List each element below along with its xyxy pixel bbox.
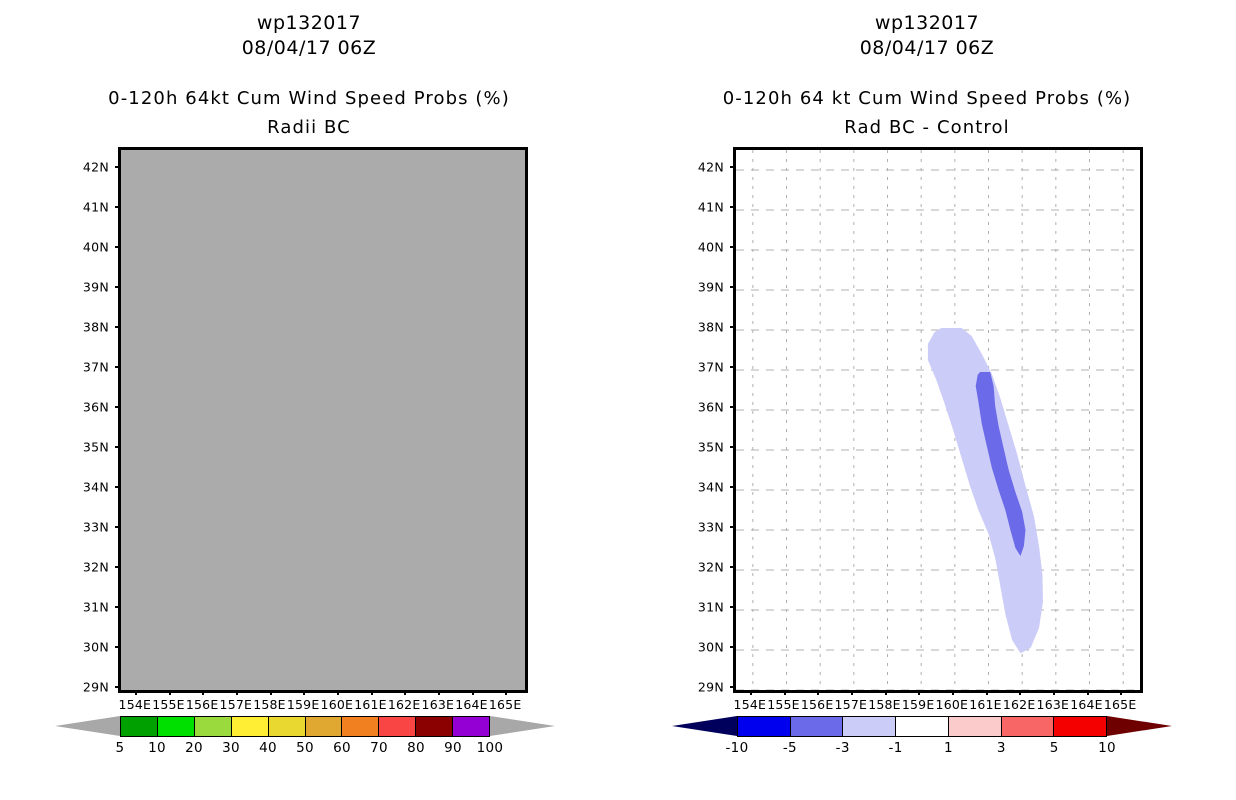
y-axis-tick-label: 35N	[678, 440, 724, 455]
colorbar-tick-label: 1	[923, 740, 973, 756]
x-axis-tick-label: 165E	[1098, 697, 1142, 712]
x-axis-tick-mark	[1087, 690, 1089, 695]
left-colorbar-high-cap	[490, 716, 555, 736]
y-axis-tick-mark	[730, 686, 736, 688]
contour-polygons	[736, 150, 1140, 690]
y-axis-tick-label: 36N	[63, 400, 109, 415]
y-axis-tick-label: 29N	[63, 680, 109, 695]
colorbar-tick-label: 5	[1029, 740, 1079, 756]
left-y-axis: 29N30N31N32N33N34N35N36N37N38N39N40N41N4…	[60, 147, 121, 687]
colorbar-swatch	[121, 717, 158, 736]
colorbar-swatch	[843, 717, 896, 736]
y-axis-tick-label: 34N	[63, 480, 109, 495]
x-axis-tick-mark	[750, 690, 752, 695]
colorbar-tick-label: 3	[976, 740, 1026, 756]
y-axis-tick-mark	[115, 686, 121, 688]
colorbar-swatch	[269, 717, 306, 736]
colorbar-tick-label: 10	[1082, 740, 1132, 756]
y-axis-tick-mark	[730, 286, 736, 288]
colorbar-swatch	[195, 717, 232, 736]
x-axis-tick-mark	[135, 690, 137, 695]
y-axis-tick-mark	[730, 566, 736, 568]
y-axis-tick-mark	[115, 526, 121, 528]
y-axis-tick-label: 40N	[678, 240, 724, 255]
right-panel-storm-id: wp132017	[618, 12, 1236, 34]
right-plot-contours	[736, 150, 1140, 690]
x-axis-tick-mark	[918, 690, 920, 695]
x-axis-tick-mark	[1120, 690, 1122, 695]
y-axis-tick-label: 40N	[63, 240, 109, 255]
y-axis-tick-label: 34N	[678, 480, 724, 495]
colorbar-swatch	[232, 717, 269, 736]
y-axis-tick-label: 31N	[63, 600, 109, 615]
y-axis-tick-label: 39N	[678, 280, 724, 295]
y-axis-tick-mark	[730, 206, 736, 208]
colorbar-swatch	[949, 717, 1002, 736]
x-axis-tick-mark	[337, 690, 339, 695]
left-panel-header-line1: 0-120h 64kt Cum Wind Speed Probs (%)	[0, 88, 618, 109]
right-panel-datetime: 08/04/17 06Z	[618, 37, 1236, 59]
y-axis-tick-label: 30N	[63, 640, 109, 655]
left-panel-storm-id: wp132017	[0, 12, 618, 34]
right-panel-header-line2: Rad BC - Control	[618, 117, 1236, 138]
colorbar-swatch	[306, 717, 343, 736]
x-axis-tick-mark	[303, 690, 305, 695]
colorbar-tick-label: -10	[712, 740, 762, 756]
colorbar-swatch	[896, 717, 949, 736]
colorbar-swatch	[416, 717, 453, 736]
y-axis-tick-mark	[115, 406, 121, 408]
colorbar-swatch	[1054, 717, 1106, 736]
right-panel-header-line1: 0-120h 64 kt Cum Wind Speed Probs (%)	[618, 88, 1236, 109]
colorbar-tick-label: -5	[765, 740, 815, 756]
colorbar-swatch	[1002, 717, 1055, 736]
left-x-axis: 154E155E156E157E158E159E160E161E162E163E…	[118, 690, 522, 712]
y-axis-tick-mark	[115, 486, 121, 488]
y-axis-tick-mark	[730, 246, 736, 248]
colorbar-swatch	[342, 717, 379, 736]
x-axis-tick-mark	[885, 690, 887, 695]
right-colorbar-bar	[737, 716, 1107, 737]
y-axis-tick-label: 42N	[678, 160, 724, 175]
left-colorbar-bar	[120, 716, 490, 737]
colorbar-swatch	[738, 717, 791, 736]
x-axis-tick-mark	[1053, 690, 1055, 695]
x-axis-tick-mark	[438, 690, 440, 695]
y-axis-tick-mark	[115, 166, 121, 168]
x-axis-tick-mark	[472, 690, 474, 695]
y-axis-tick-mark	[115, 286, 121, 288]
left-panel: wp132017 08/04/17 06Z 0-120h 64kt Cum Wi…	[0, 0, 618, 800]
y-axis-tick-label: 38N	[678, 320, 724, 335]
left-panel-header-line2: Radii BC	[0, 117, 618, 138]
colorbar-swatch	[791, 717, 844, 736]
left-colorbar: 5102030405060708090100	[55, 716, 555, 776]
x-axis-tick-mark	[236, 690, 238, 695]
y-axis-tick-label: 39N	[63, 280, 109, 295]
y-axis-tick-label: 37N	[678, 360, 724, 375]
colorbar-tick-label: -3	[818, 740, 868, 756]
y-axis-tick-label: 32N	[678, 560, 724, 575]
y-axis-tick-label: 42N	[63, 160, 109, 175]
x-axis-tick-mark	[986, 690, 988, 695]
y-axis-tick-mark	[730, 646, 736, 648]
y-axis-tick-label: 31N	[678, 600, 724, 615]
x-axis-tick-mark	[1019, 690, 1021, 695]
y-axis-tick-label: 32N	[63, 560, 109, 575]
y-axis-tick-mark	[115, 326, 121, 328]
right-x-axis: 154E155E156E157E158E159E160E161E162E163E…	[733, 690, 1137, 712]
x-axis-tick-mark	[404, 690, 406, 695]
y-axis-tick-label: 41N	[678, 200, 724, 215]
right-y-axis: 29N30N31N32N33N34N35N36N37N38N39N40N41N4…	[675, 147, 736, 687]
y-axis-tick-mark	[115, 246, 121, 248]
y-axis-tick-mark	[115, 606, 121, 608]
y-axis-tick-label: 37N	[63, 360, 109, 375]
x-axis-tick-mark	[817, 690, 819, 695]
right-colorbar-high-cap	[1107, 716, 1172, 736]
y-axis-tick-mark	[115, 446, 121, 448]
colorbar-tick-label: 100	[465, 740, 515, 756]
x-axis-tick-mark	[952, 690, 954, 695]
y-axis-tick-label: 38N	[63, 320, 109, 335]
y-axis-tick-mark	[730, 526, 736, 528]
y-axis-tick-mark	[115, 646, 121, 648]
left-plot-area	[118, 147, 528, 693]
x-axis-tick-mark	[784, 690, 786, 695]
y-axis-tick-label: 29N	[678, 680, 724, 695]
y-axis-tick-mark	[730, 446, 736, 448]
y-axis-tick-mark	[730, 486, 736, 488]
y-axis-tick-mark	[730, 326, 736, 328]
x-axis-tick-mark	[202, 690, 204, 695]
y-axis-tick-label: 30N	[678, 640, 724, 655]
colorbar-swatch	[453, 717, 489, 736]
x-axis-tick-label: 165E	[483, 697, 527, 712]
y-axis-tick-mark	[115, 206, 121, 208]
y-axis-tick-mark	[730, 606, 736, 608]
colorbar-tick-label: -1	[871, 740, 921, 756]
x-axis-tick-mark	[851, 690, 853, 695]
colorbar-swatch	[158, 717, 195, 736]
y-axis-tick-mark	[115, 366, 121, 368]
y-axis-tick-label: 41N	[63, 200, 109, 215]
y-axis-tick-mark	[115, 566, 121, 568]
x-axis-tick-mark	[270, 690, 272, 695]
left-plot-field	[121, 150, 525, 690]
y-axis-tick-label: 33N	[63, 520, 109, 535]
y-axis-tick-label: 36N	[678, 400, 724, 415]
colorbar-swatch	[379, 717, 416, 736]
left-panel-datetime: 08/04/17 06Z	[0, 37, 618, 59]
x-axis-tick-mark	[505, 690, 507, 695]
y-axis-tick-mark	[730, 406, 736, 408]
right-plot-area	[733, 147, 1143, 693]
y-axis-tick-mark	[730, 166, 736, 168]
left-colorbar-low-cap	[55, 716, 120, 736]
y-axis-tick-label: 33N	[678, 520, 724, 535]
right-colorbar-low-cap	[672, 716, 737, 736]
y-axis-tick-mark	[730, 366, 736, 368]
y-axis-tick-label: 35N	[63, 440, 109, 455]
x-axis-tick-mark	[371, 690, 373, 695]
x-axis-tick-mark	[169, 690, 171, 695]
right-colorbar: -10-5-3-113510	[672, 716, 1172, 776]
